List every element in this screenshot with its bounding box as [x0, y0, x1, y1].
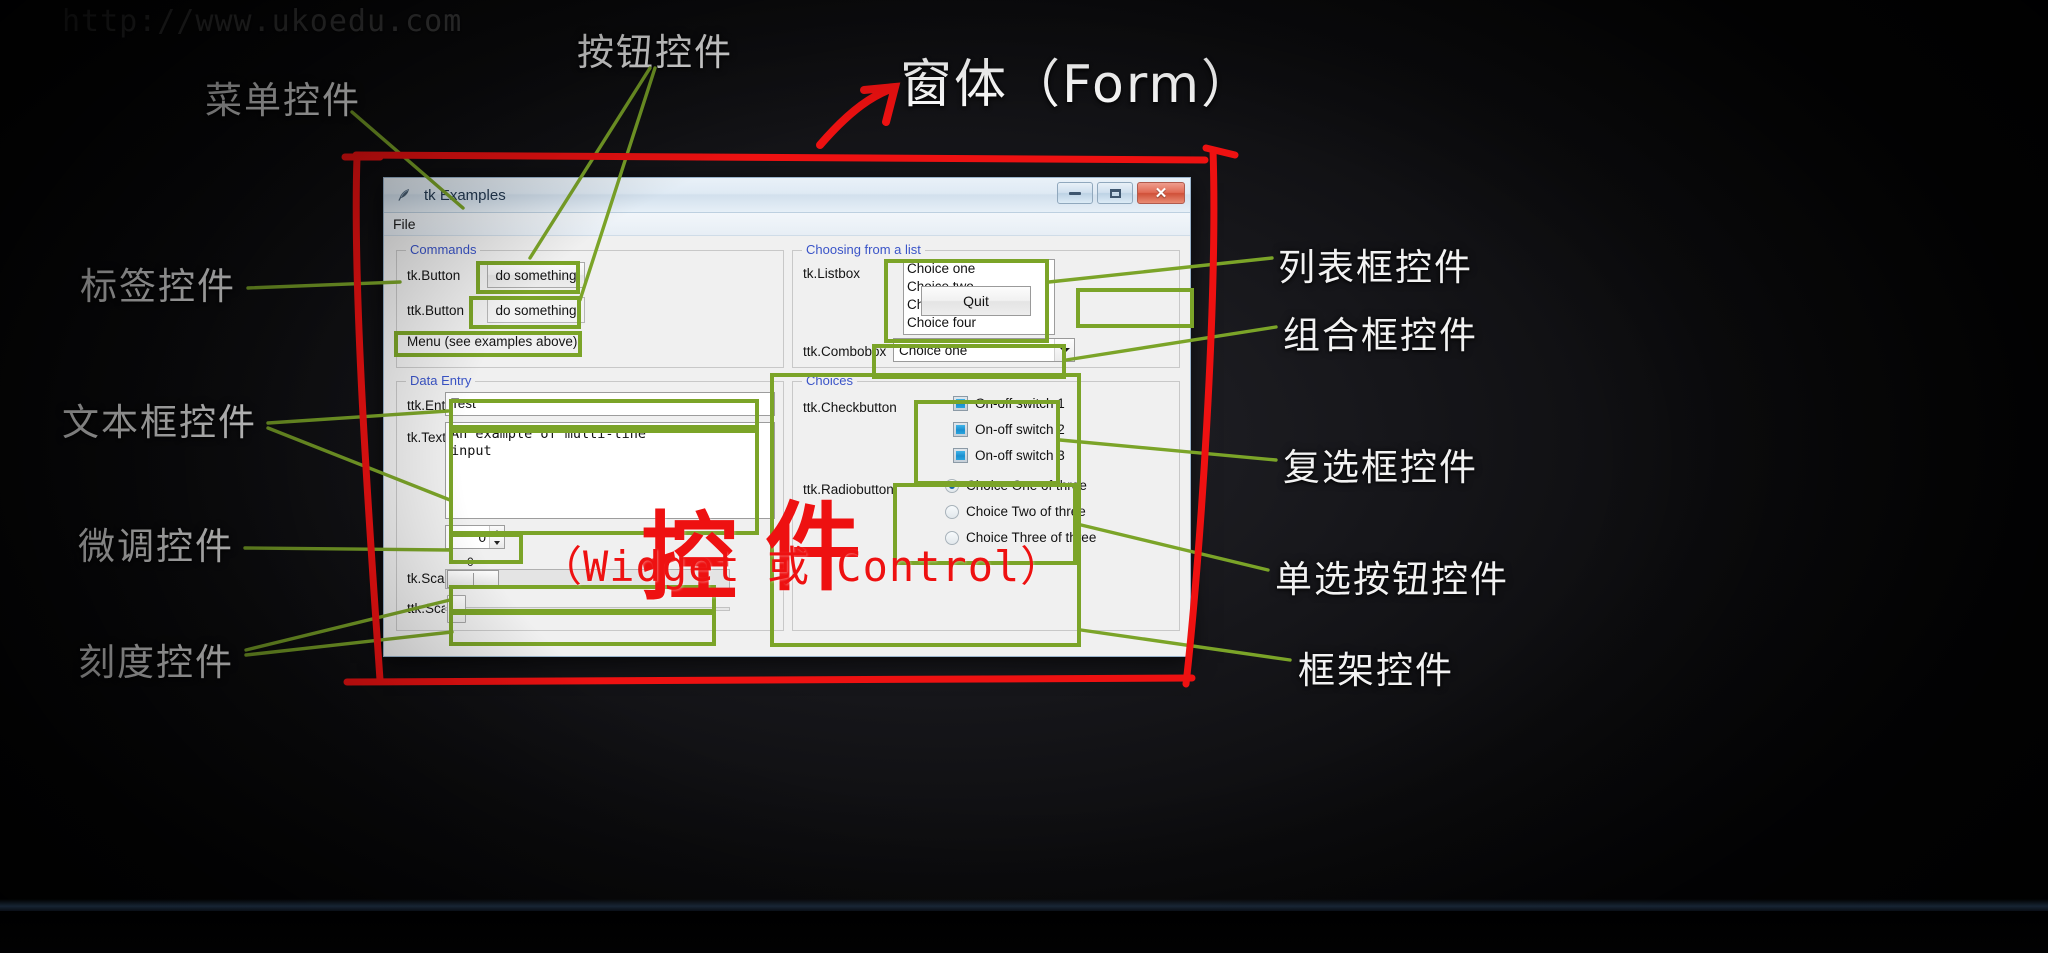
annotation-checkbox: 复选框控件	[1283, 437, 1478, 491]
tk-text-label: tk.Text	[407, 430, 446, 445]
tk-button-label: tk.Button	[407, 268, 460, 283]
ttk-button[interactable]: do something	[487, 297, 585, 323]
listbox-item[interactable]: Choice one	[904, 260, 1054, 278]
ttk-button-text: do something	[495, 303, 576, 318]
annotation-radio: 单选按钮控件	[1275, 549, 1509, 603]
checkbutton-label: On-off switch 1	[975, 396, 1065, 411]
annotation-button: 按钮控件	[577, 22, 733, 76]
choosing-groupbox-title: Choosing from a list	[802, 242, 925, 257]
radiobutton-row[interactable]: Choice One of three	[945, 478, 1087, 493]
spinbox-value: 0	[478, 530, 489, 545]
menu-example-note[interactable]: Menu (see examples above)	[407, 334, 577, 349]
checkbutton-row[interactable]: On-off switch 2	[953, 422, 1065, 437]
annotation-form: 窗体（Form）	[900, 42, 1255, 117]
annotation-spinbox: 微调控件	[78, 516, 234, 570]
window-menubar: File	[384, 213, 1190, 236]
tk-button[interactable]: do something	[487, 262, 585, 288]
ttk-checkbutton-label: ttk.Checkbutton	[803, 400, 897, 415]
ttk-combobox[interactable]: Choice one	[893, 338, 1075, 362]
combobox-dropdown-button[interactable]	[1054, 339, 1074, 361]
chevron-down-icon	[494, 541, 500, 545]
checkbox-fill	[956, 399, 965, 408]
close-icon: ✕	[1155, 186, 1168, 201]
tk-scale-thumb[interactable]	[447, 570, 499, 588]
minimize-icon	[1069, 192, 1081, 195]
spinbox[interactable]: 0	[445, 525, 505, 549]
minimize-button[interactable]	[1057, 182, 1093, 204]
annotation-frame: 框架控件	[1298, 640, 1454, 694]
ttk-scale-thumb[interactable]	[447, 595, 466, 623]
maximize-button[interactable]	[1097, 182, 1133, 204]
checkbutton-label: On-off switch 2	[975, 422, 1065, 437]
checkbox-fill	[956, 425, 965, 434]
spinbox-down-button[interactable]	[490, 537, 504, 548]
window-buttons: ✕	[1057, 182, 1185, 204]
tk-button-text: do something	[495, 268, 576, 283]
menu-item-file[interactable]: File	[384, 213, 425, 236]
chevron-up-icon	[494, 530, 500, 534]
window-titlebar: tk Examples ✕	[384, 178, 1190, 213]
quit-button-label: Quit	[963, 293, 989, 309]
annotation-menu: 菜单控件	[205, 70, 361, 124]
choices-groupbox-title: Choices	[802, 373, 857, 388]
radiobutton-label: Choice One of three	[966, 478, 1087, 493]
maximize-icon	[1110, 189, 1121, 198]
annotation-textbox: 文本框控件	[62, 392, 257, 446]
commands-groupbox-title: Commands	[406, 242, 480, 257]
radio-icon[interactable]	[945, 505, 959, 519]
radio-dot	[949, 483, 955, 489]
annotation-listbox: 列表框控件	[1278, 237, 1473, 291]
annotation-scale: 刻度控件	[78, 632, 234, 686]
radiobutton-row[interactable]: Choice Two of three	[945, 504, 1086, 519]
ttk-button-label: ttk.Button	[407, 303, 464, 318]
tk-text-value: An example of multi-line input	[451, 426, 646, 459]
radio-icon[interactable]	[945, 479, 959, 493]
data-entry-groupbox-title: Data Entry	[406, 373, 475, 388]
bottom-glow	[0, 899, 2048, 911]
checkbox-icon[interactable]	[953, 448, 968, 463]
checkbox-icon[interactable]	[953, 396, 968, 411]
checkbox-fill	[956, 451, 965, 460]
bottom-bar	[0, 911, 2048, 953]
tk-scale-value: 0	[467, 555, 474, 569]
window-title: tk Examples	[424, 187, 506, 204]
chevron-down-icon	[1060, 348, 1070, 353]
checkbutton-row[interactable]: On-off switch 1	[953, 396, 1065, 411]
annotation-label: 标签控件	[80, 256, 236, 310]
radiobutton-label: Choice Two of three	[966, 504, 1086, 519]
checkbutton-label: On-off switch 3	[975, 448, 1065, 463]
checkbox-icon[interactable]	[953, 422, 968, 437]
quit-button[interactable]: Quit	[921, 286, 1031, 316]
commands-groupbox: Commands tk.Button do something ttk.Butt…	[396, 250, 784, 368]
close-button[interactable]: ✕	[1137, 182, 1185, 204]
annotation-combobox: 组合框控件	[1283, 305, 1478, 359]
combobox-value: Choice one	[894, 343, 1054, 358]
tk-listbox-label: tk.Listbox	[803, 266, 860, 281]
site-watermark: http://www.ukoedu.com	[62, 4, 462, 39]
listbox-item[interactable]: Choice four	[904, 314, 1054, 332]
feather-icon	[396, 187, 412, 203]
checkbutton-row[interactable]: On-off switch 3	[953, 448, 1065, 463]
ttk-combobox-label: ttk.Combobox	[803, 344, 886, 359]
red-overlay-subtitle: （Widget 或 Control）	[540, 533, 1063, 594]
spinbox-steppers[interactable]	[489, 526, 504, 548]
ttk-entry-value: Test	[451, 396, 476, 411]
ttk-entry-input[interactable]: Test	[445, 392, 775, 416]
spinbox-up-button[interactable]	[490, 526, 504, 537]
